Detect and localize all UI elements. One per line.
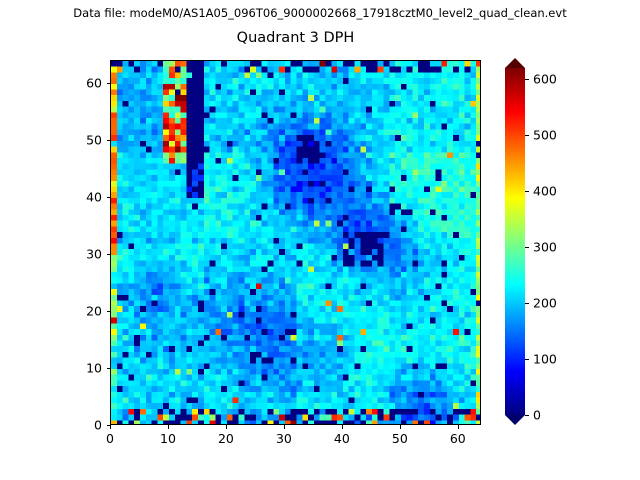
colorbar-tick-label: 200 [533, 296, 557, 311]
x-tick-mark [110, 425, 111, 429]
colorbar-tick-label: 600 [533, 72, 557, 87]
y-tick-label: 50 [68, 132, 102, 147]
x-tick-label: 10 [160, 431, 176, 446]
colorbar-tick-mark [525, 247, 529, 248]
colorbar-over-arrow-icon [505, 58, 525, 68]
x-tick-mark [226, 425, 227, 429]
x-tick-mark [342, 425, 343, 429]
y-tick-label: 0 [68, 418, 102, 433]
x-tick-mark [284, 425, 285, 429]
x-tick-mark [400, 425, 401, 429]
colorbar-tick-label: 100 [533, 352, 557, 367]
colorbar-tick-label: 400 [533, 184, 557, 199]
colorbar-under-arrow-icon [505, 415, 525, 425]
x-tick-label: 40 [334, 431, 350, 446]
figure-canvas: Data file: modeM0/AS1A05_096T06_90000026… [0, 0, 640, 480]
y-tick-mark [107, 83, 111, 84]
colorbar-tick-mark [525, 135, 529, 136]
plot-title: Quadrant 3 DPH [110, 30, 481, 46]
x-tick-label: 30 [276, 431, 292, 446]
colorbar-gradient [505, 68, 525, 415]
y-tick-mark [107, 425, 111, 426]
y-tick-label: 30 [68, 246, 102, 261]
data-file-label: Data file: modeM0/AS1A05_096T06_90000026… [0, 6, 640, 20]
x-tick-mark [458, 425, 459, 429]
colorbar-tick-mark [525, 303, 529, 304]
x-tick-mark [168, 425, 169, 429]
x-tick-label: 60 [450, 431, 466, 446]
y-tick-label: 10 [68, 360, 102, 375]
x-tick-label: 0 [106, 431, 114, 446]
heatmap-axes [110, 60, 481, 425]
colorbar: 0100200300400500600 [505, 58, 625, 428]
y-tick-mark [107, 197, 111, 198]
heatmap-image [111, 61, 481, 425]
y-tick-mark [107, 140, 111, 141]
y-tick-mark [107, 311, 111, 312]
y-tick-mark [107, 254, 111, 255]
colorbar-tick-label: 0 [533, 408, 541, 423]
colorbar-tick-mark [525, 359, 529, 360]
y-tick-label: 20 [68, 303, 102, 318]
y-tick-label: 60 [68, 75, 102, 90]
x-tick-label: 50 [392, 431, 408, 446]
y-tick-mark [107, 368, 111, 369]
colorbar-tick-label: 500 [533, 128, 557, 143]
colorbar-tick-mark [525, 191, 529, 192]
colorbar-tick-label: 300 [533, 240, 557, 255]
y-tick-label: 40 [68, 189, 102, 204]
x-tick-label: 20 [218, 431, 234, 446]
colorbar-tick-mark [525, 79, 529, 80]
colorbar-tick-mark [525, 415, 529, 416]
